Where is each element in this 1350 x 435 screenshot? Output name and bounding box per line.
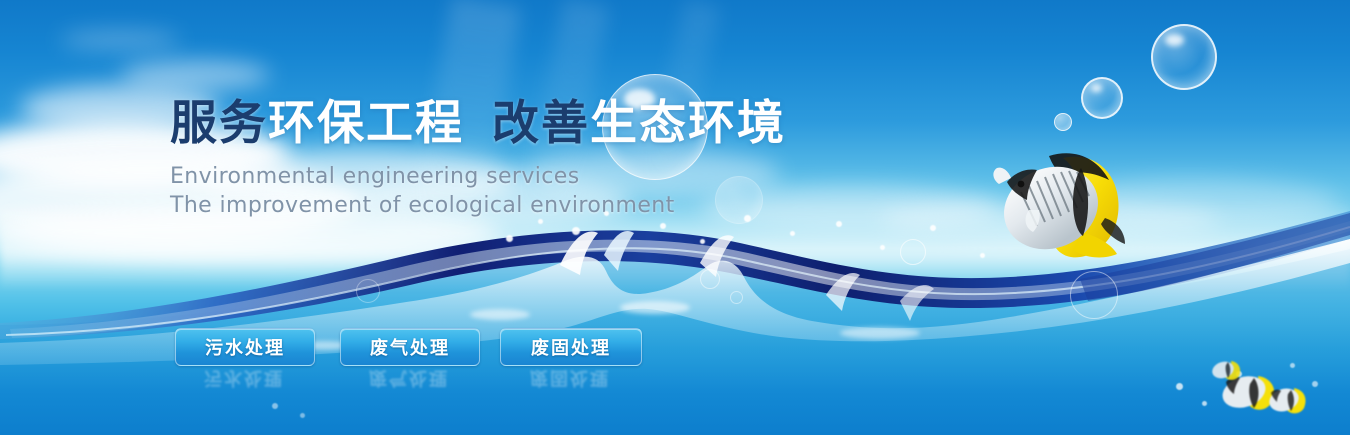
wave-sheen: [10, 221, 1350, 338]
title-segment-light-1: 环保工程: [268, 96, 464, 151]
btn-solid-waste-reflection: 废固处理: [500, 368, 640, 390]
bubble-highlight: [1165, 34, 1184, 46]
cloud-shape: [120, 60, 270, 90]
btn-solid-waste[interactable]: 废固处理: [500, 328, 642, 366]
water-droplet: [880, 245, 885, 250]
btn-waste-gas-reflection-label: 废气处理: [369, 366, 449, 392]
page-title: 服务环保工程改善生态环境: [170, 98, 786, 150]
underwater-bubble: [272, 403, 278, 409]
wave-deep-band: [0, 211, 1350, 339]
foam-blob: [840, 327, 920, 339]
wave-highlight-line: [6, 227, 1350, 335]
subtitle-line-2: The improvement of ecological environmen…: [170, 191, 675, 220]
underwater-bubble: [300, 413, 305, 418]
splash-spike: [604, 231, 634, 271]
foam-blob: [470, 309, 530, 320]
bubble-large-icon: [1151, 24, 1217, 90]
water-droplet: [790, 231, 795, 236]
water-layer: [0, 205, 1350, 435]
title-segment-light-2: 生态环境: [590, 96, 786, 151]
water-wave-graphic: [0, 205, 1350, 435]
splash-spike: [826, 273, 860, 311]
water-droplet: [660, 223, 666, 229]
underwater-bubble: [1290, 363, 1295, 368]
mini-fish-graphic: [1266, 384, 1310, 416]
butterflyfish-b: [1266, 384, 1310, 416]
btn-waste-gas-label: 废气处理: [370, 334, 450, 360]
splash-spike: [900, 285, 934, 321]
butterflyfish-main: [985, 140, 1135, 270]
btn-wastewater[interactable]: 污水处理: [175, 328, 315, 366]
water-ring-bubble: [1070, 271, 1118, 319]
water-ring-bubble: [356, 279, 380, 303]
water-droplet: [930, 225, 936, 231]
water-droplet: [506, 235, 513, 242]
bubble-faint-icon: [715, 176, 763, 224]
subtitle-line-1: Environmental engineering services: [170, 162, 580, 191]
underwater-bubble: [1202, 401, 1207, 406]
water-ring-bubble: [730, 291, 743, 304]
title-segment-dark-1: 服务: [170, 96, 268, 151]
underwater-bubble: [1312, 381, 1318, 387]
btn-waste-gas-reflection: 废气处理: [340, 368, 478, 390]
water-ring-bubble: [700, 269, 720, 289]
btn-solid-waste-label: 废固处理: [531, 334, 611, 360]
underwater-bubble: [1176, 383, 1183, 390]
btn-solid-waste-reflection-label: 废固处理: [530, 366, 610, 392]
fish-eye: [1018, 181, 1025, 188]
environmental-banner: 服务环保工程改善生态环境 Environmental engineering s…: [0, 0, 1350, 435]
btn-waste-gas[interactable]: 废气处理: [340, 328, 480, 366]
bubble-highlight: [1091, 84, 1102, 92]
title-segment-dark-2: 改善: [492, 96, 590, 151]
btn-wastewater-label: 污水处理: [205, 334, 285, 360]
water-droplet: [572, 227, 580, 235]
water-ring-bubble: [900, 239, 926, 265]
butterflyfish-c: [1210, 358, 1244, 382]
splash-spike: [560, 231, 598, 275]
foam-blob: [620, 301, 690, 314]
splash-spike: [700, 235, 734, 277]
btn-wastewater-reflection: 污水处理: [175, 368, 313, 390]
butterflyfish-graphic: [985, 140, 1135, 270]
water-droplet: [836, 221, 842, 227]
cloud-shape: [60, 30, 180, 50]
mini-fish-graphic: [1210, 358, 1244, 382]
bubble-small-icon: [1054, 113, 1072, 131]
bubble-medium-icon: [1081, 77, 1123, 119]
water-droplet: [700, 239, 705, 244]
btn-wastewater-reflection-label: 污水处理: [204, 366, 284, 392]
